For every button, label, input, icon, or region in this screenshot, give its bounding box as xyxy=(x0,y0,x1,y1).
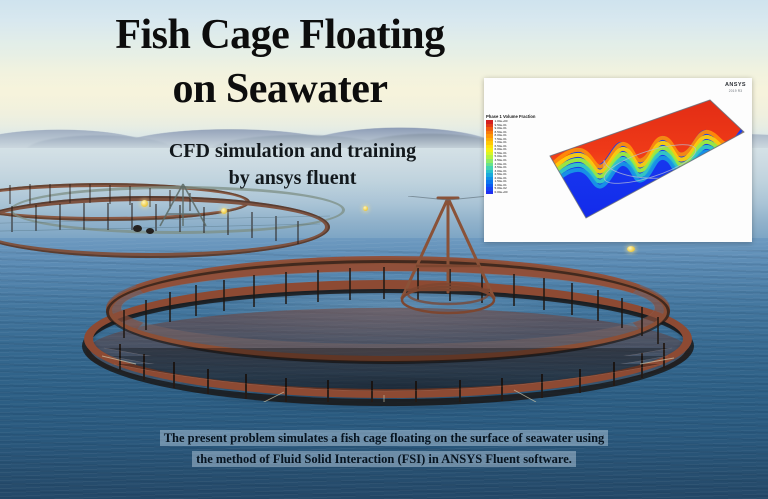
subtitle-line-1: CFD simulation and training xyxy=(169,140,416,162)
buoy-marker xyxy=(221,208,227,214)
ansys-logo-text: ANSYS xyxy=(725,83,746,89)
subtitle-line-2: by ansys fluent xyxy=(229,167,357,189)
contour-plot xyxy=(542,90,750,230)
title-line-1: Fish Cage Floating xyxy=(115,12,444,58)
page-title: Fish Cage Floating on Seawater xyxy=(0,8,560,116)
buoy-marker xyxy=(141,200,148,207)
cage-float xyxy=(133,225,142,232)
contour-plot-svg xyxy=(542,90,750,230)
poster-root: ANSYS 2019 R3 Phase 1 Volume Fraction 1.… xyxy=(0,0,768,499)
caption-line-1: The present problem simulates a fish cag… xyxy=(160,430,609,446)
page-caption: The present problem simulates a fish cag… xyxy=(0,428,768,470)
caption-line-2: the method of Fluid Solid Interaction (F… xyxy=(192,451,576,467)
title-line-2: on Seawater xyxy=(0,62,560,116)
page-subtitle: CFD simulation and training by ansys flu… xyxy=(20,138,565,192)
cage-float xyxy=(146,228,154,234)
cage-stanchion-posts xyxy=(84,252,692,402)
buoy-marker xyxy=(363,206,368,211)
main-fish-cage xyxy=(84,252,692,402)
contour-field xyxy=(542,90,750,230)
